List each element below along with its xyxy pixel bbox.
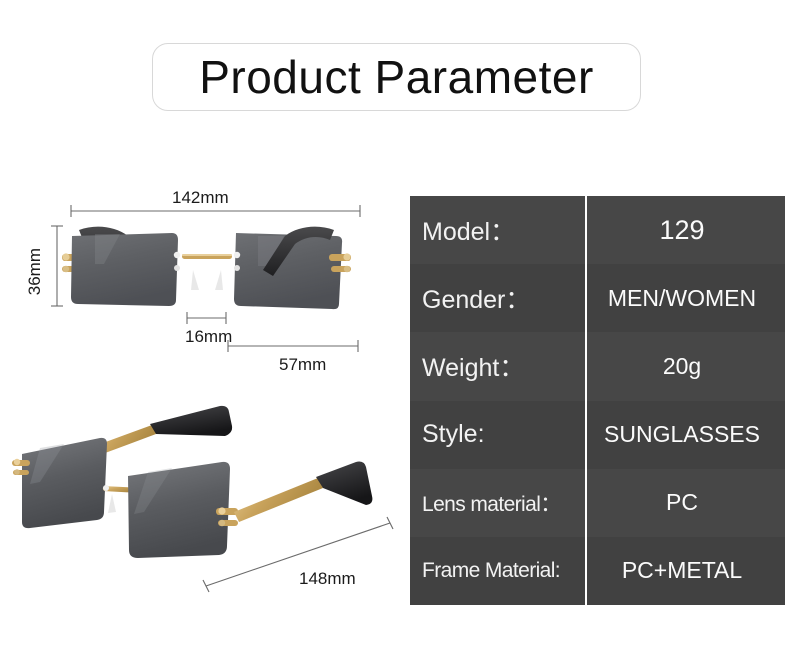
row-value-gender: MEN/WOMEN <box>585 285 785 312</box>
temple-tip-near <box>316 462 372 505</box>
dimension-label-36mm: 36mm <box>25 248 45 295</box>
table-row: Weight： 20g <box>410 332 785 400</box>
row-value-lens-material: PC <box>585 489 785 516</box>
dimension-line-36mm <box>51 226 63 306</box>
table-row: Gender： MEN/WOMEN <box>410 264 785 332</box>
row-label-style: Style: <box>410 420 585 449</box>
sunglasses-front-view-diagram <box>0 178 400 388</box>
row-value-weight: 20g <box>585 353 785 380</box>
table-row: Frame Material: PC+METAL <box>410 537 785 605</box>
row-label-frame-material: Frame Material: <box>410 559 585 583</box>
dimension-line-16mm <box>187 312 226 324</box>
temple-arm-near <box>234 478 323 522</box>
table-row: Style: SUNGLASSES <box>410 401 785 469</box>
dimension-label-16mm: 16mm <box>185 327 232 347</box>
row-label-weight: Weight： <box>410 348 585 384</box>
dimension-label-57mm: 57mm <box>279 355 326 375</box>
dimension-label-142mm: 142mm <box>172 188 229 208</box>
bridge-bar <box>182 254 232 259</box>
temple-tip-far <box>150 406 232 436</box>
dimension-label-148mm: 148mm <box>299 569 356 589</box>
dimension-line-148mm <box>203 517 393 592</box>
row-label-model: Model： <box>410 212 585 248</box>
row-label-lens-material: Lens material： <box>410 488 585 518</box>
row-value-model: 129 <box>585 215 785 246</box>
table-row: Lens material： PC <box>410 469 785 537</box>
page-title: Product Parameter <box>199 50 594 104</box>
nose-pads <box>191 270 223 290</box>
row-label-gender: Gender： <box>410 280 585 316</box>
product-parameter-table: Model： 129 Gender： MEN/WOMEN Weight： 20g… <box>410 196 785 605</box>
dimension-line-57mm <box>228 340 358 352</box>
row-value-frame-material: PC+METAL <box>585 557 785 584</box>
nose-pad-angled <box>108 494 116 513</box>
table-column-divider <box>585 196 587 605</box>
lens-left <box>71 233 178 306</box>
row-value-style: SUNGLASSES <box>585 421 785 448</box>
page-title-box: Product Parameter <box>152 43 641 111</box>
table-row: Model： 129 <box>410 196 785 264</box>
